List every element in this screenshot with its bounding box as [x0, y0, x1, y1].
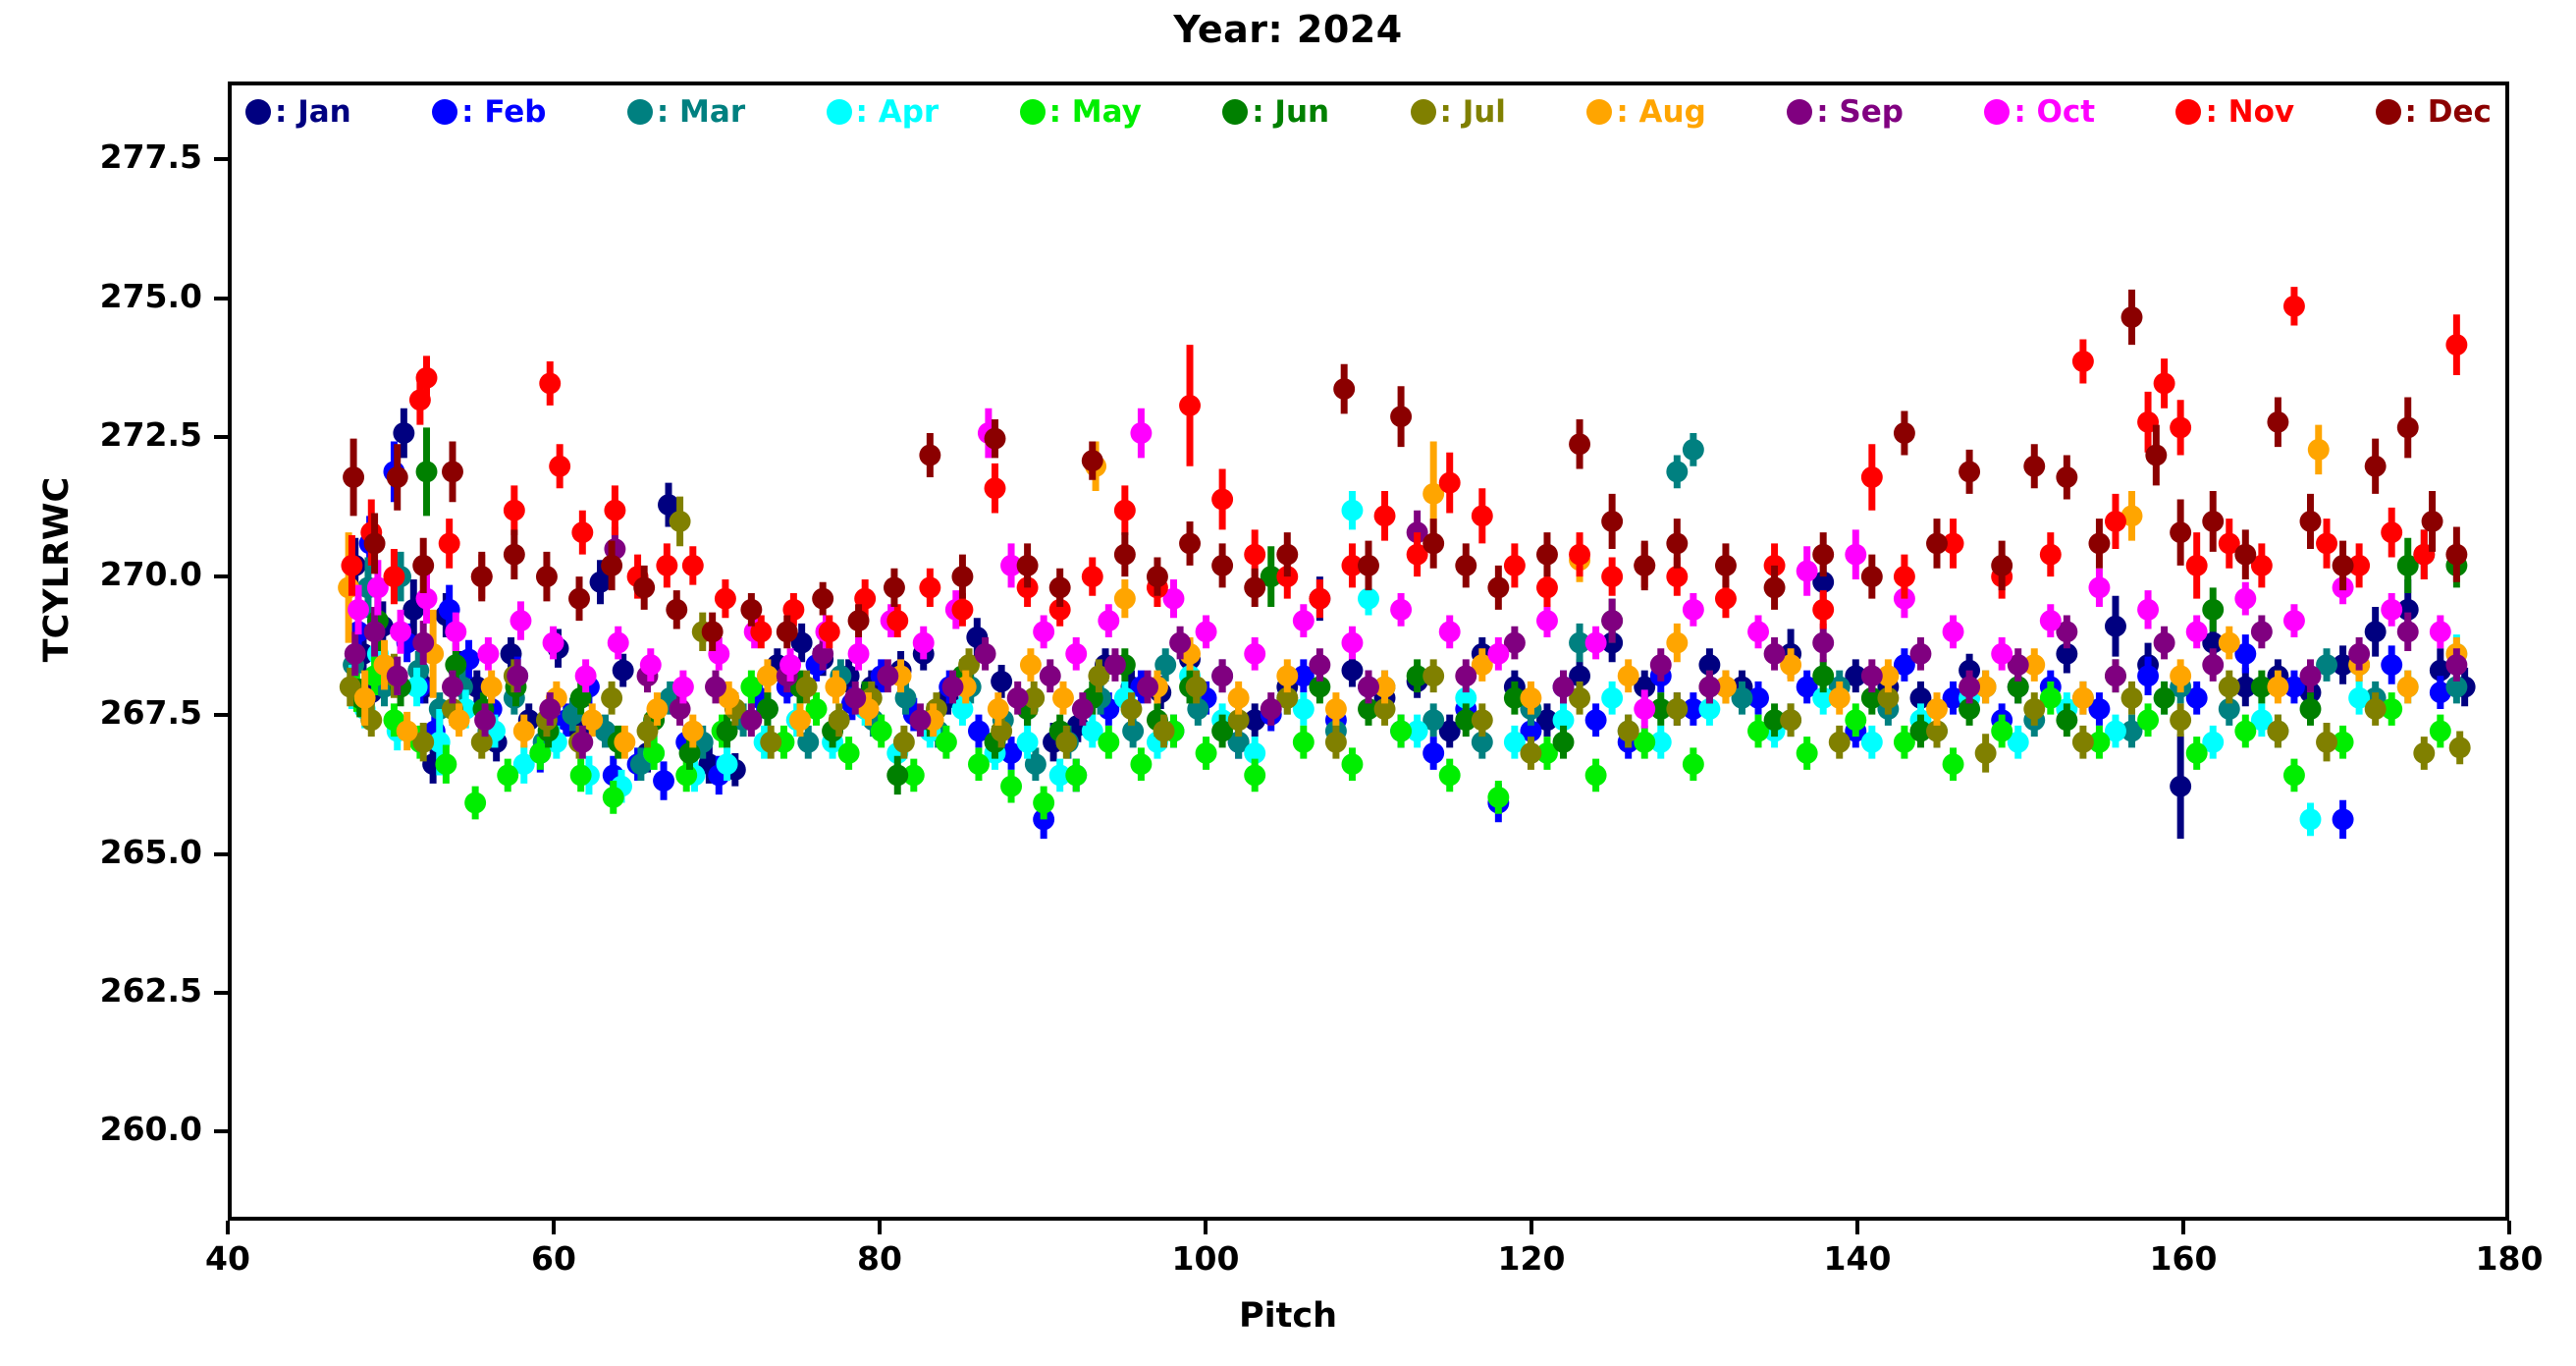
data-point	[968, 753, 990, 775]
data-point	[1358, 555, 1379, 576]
data-point	[2121, 306, 2143, 328]
data-point	[2348, 643, 2370, 665]
data-point	[838, 742, 860, 764]
data-point	[985, 428, 1006, 450]
data-point	[1472, 709, 1493, 731]
data-point	[507, 665, 528, 686]
data-point	[2316, 732, 2337, 753]
data-point	[2154, 373, 2175, 395]
data-point	[1666, 532, 1688, 554]
data-point	[2186, 621, 2208, 642]
data-point	[2088, 532, 2110, 554]
data-point	[1829, 732, 1851, 753]
legend-marker-icon	[1586, 99, 1612, 125]
y-tick-mark	[214, 852, 228, 856]
data-point	[2154, 687, 2175, 709]
data-point	[449, 709, 470, 731]
data-point	[1439, 765, 1461, 787]
data-point	[740, 599, 762, 621]
data-point	[646, 698, 668, 720]
data-point	[1698, 677, 1720, 698]
x-tick-label: 160	[2150, 1239, 2218, 1278]
data-point	[481, 677, 503, 698]
x-tick-label: 60	[531, 1239, 576, 1278]
legend-item-label: : Oct	[2013, 97, 2095, 128]
data-point	[2170, 665, 2191, 686]
data-point	[1618, 665, 1639, 686]
data-point	[1715, 555, 1737, 576]
legend-item-may[interactable]: : May	[1020, 97, 1142, 128]
data-point	[656, 555, 677, 576]
x-tick-mark	[552, 1221, 556, 1234]
y-tick-label: 275.0	[0, 277, 202, 315]
data-point	[393, 422, 414, 444]
data-point	[1341, 500, 1363, 521]
y-tick-mark	[214, 991, 228, 995]
data-point	[812, 588, 833, 610]
data-point	[1601, 511, 1623, 532]
data-point	[1065, 643, 1087, 665]
data-point	[2170, 416, 2191, 438]
data-point	[1244, 576, 1265, 598]
data-point	[1487, 787, 1509, 808]
data-point	[1536, 544, 1558, 566]
data-point	[1276, 665, 1298, 686]
data-point	[951, 599, 973, 621]
data-point	[1455, 665, 1476, 686]
data-point	[2219, 632, 2240, 654]
data-point	[1007, 687, 1029, 709]
data-point	[2105, 665, 2126, 686]
data-point	[2072, 687, 2094, 709]
data-point	[2283, 765, 2305, 787]
data-point	[2267, 411, 2288, 433]
data-point	[670, 511, 691, 532]
legend-item-label: : Jan	[275, 97, 351, 128]
data-point	[416, 461, 438, 482]
legend-marker-icon	[2376, 99, 2401, 125]
legend-item-label: : Jul	[1440, 97, 1506, 128]
data-point	[1991, 721, 2012, 742]
data-point	[2137, 599, 2159, 621]
data-point	[886, 610, 908, 631]
data-point	[633, 576, 655, 598]
data-point	[1358, 677, 1379, 698]
data-point	[1926, 532, 1948, 554]
data-point	[341, 555, 362, 576]
data-point	[1211, 665, 1233, 686]
data-point	[991, 671, 1012, 692]
data-point	[2202, 511, 2224, 532]
data-point	[1033, 792, 1054, 814]
data-point	[1040, 665, 1061, 686]
data-point	[1683, 439, 1704, 461]
page-title: Year: 2024	[0, 8, 2576, 51]
data-point	[2365, 621, 2387, 642]
data-point	[877, 665, 898, 686]
data-point	[364, 621, 386, 642]
data-point	[1812, 599, 1834, 621]
data-point	[2154, 632, 2175, 654]
data-point	[570, 765, 592, 787]
data-point	[936, 732, 957, 753]
data-point	[1764, 576, 1786, 598]
data-point	[2445, 334, 2467, 355]
y-tick-mark	[214, 435, 228, 439]
data-point	[1634, 698, 1655, 720]
data-point	[513, 721, 535, 742]
data-point	[539, 373, 561, 395]
data-point	[2251, 621, 2273, 642]
data-point	[1943, 621, 1964, 642]
data-point	[1169, 632, 1191, 654]
data-point	[435, 753, 456, 775]
legend-item-label: : May	[1049, 97, 1142, 128]
data-point	[2397, 677, 2419, 698]
data-point	[1487, 643, 1509, 665]
data-point	[1211, 489, 1233, 511]
data-point	[2234, 588, 2256, 610]
data-point	[2056, 709, 2077, 731]
data-point	[464, 792, 486, 814]
data-point	[1082, 566, 1103, 587]
data-point	[1764, 643, 1786, 665]
legend-item-oct[interactable]: : Oct	[1984, 97, 2095, 128]
data-point	[2300, 808, 2322, 830]
data-point	[571, 732, 593, 753]
data-point	[390, 621, 411, 642]
data-point	[442, 677, 463, 698]
data-point	[1909, 643, 1931, 665]
data-point	[1861, 566, 1883, 587]
data-point	[601, 687, 622, 709]
legend-marker-icon	[627, 99, 653, 125]
data-point	[613, 660, 634, 682]
data-point	[1797, 561, 1818, 582]
y-tick-label: 267.5	[0, 693, 202, 732]
data-point	[682, 555, 704, 576]
x-tick-mark	[878, 1221, 882, 1234]
data-point	[1894, 422, 1915, 444]
data-point	[2105, 616, 2126, 637]
data-point	[819, 621, 840, 642]
data-point	[1017, 732, 1039, 753]
data-point	[387, 665, 408, 686]
data-point	[364, 532, 386, 554]
data-point	[2267, 677, 2288, 698]
data-point	[477, 643, 499, 665]
data-point	[2219, 677, 2240, 698]
data-point	[2381, 654, 2402, 676]
data-point	[1845, 544, 1866, 566]
data-point	[2170, 521, 2191, 543]
data-point	[1861, 665, 1883, 686]
data-point	[1553, 677, 1575, 698]
data-point	[1422, 532, 1444, 554]
data-point	[412, 632, 434, 654]
legend-marker-icon	[827, 99, 852, 125]
data-point	[1747, 621, 1769, 642]
data-point	[702, 621, 724, 642]
legend-item-apr[interactable]: : Apr	[827, 97, 939, 128]
data-point	[1472, 505, 1493, 526]
legend-item-nov[interactable]: : Nov	[2175, 97, 2294, 128]
data-point	[1861, 466, 1883, 488]
data-point	[1797, 742, 1818, 764]
data-point	[975, 643, 996, 665]
data-point	[1020, 654, 1042, 676]
data-point	[1276, 544, 1298, 566]
data-point	[942, 677, 964, 698]
data-point	[1341, 660, 1363, 682]
x-axis-label: Pitch	[0, 1296, 2576, 1336]
scatter-plot-canvas	[232, 85, 2505, 1217]
data-point	[604, 500, 625, 521]
data-point	[412, 555, 434, 576]
legend-item-aug[interactable]: : Aug	[1586, 97, 1705, 128]
data-point	[2430, 721, 2451, 742]
data-point	[383, 566, 404, 587]
data-point	[442, 461, 463, 482]
data-point	[1634, 555, 1655, 576]
data-point	[2283, 296, 2305, 317]
data-point	[2121, 687, 2143, 709]
data-point	[893, 732, 915, 753]
legend-item-mar[interactable]: : Mar	[627, 97, 745, 128]
data-point	[1065, 765, 1087, 787]
data-point	[2365, 456, 2387, 477]
data-point	[1943, 753, 1964, 775]
data-point	[825, 677, 846, 698]
data-point	[1390, 721, 1412, 742]
data-point	[1487, 576, 1509, 598]
data-point	[829, 709, 850, 731]
data-point	[796, 677, 818, 698]
data-point	[1309, 654, 1330, 676]
data-point	[439, 532, 460, 554]
data-point	[1196, 621, 1217, 642]
data-point	[416, 367, 438, 389]
data-point	[1422, 742, 1444, 764]
data-point	[1601, 610, 1623, 631]
legend-item-feb[interactable]: : Feb	[432, 97, 546, 128]
data-point	[2381, 521, 2402, 543]
data-point	[2308, 439, 2330, 461]
data-point	[757, 665, 778, 686]
data-point	[2316, 532, 2337, 554]
data-point	[2397, 416, 2419, 438]
y-tick-label: 262.5	[0, 971, 202, 1010]
data-point	[1121, 698, 1143, 720]
data-point	[1504, 555, 1526, 576]
y-tick-mark	[214, 157, 228, 161]
data-point	[536, 566, 558, 587]
legend-item-jul[interactable]: : Jul	[1411, 97, 1506, 128]
legend-item-dec[interactable]: : Dec	[2376, 97, 2492, 128]
data-point	[1325, 698, 1347, 720]
data-point	[571, 521, 593, 543]
legend-item-label: : Dec	[2405, 97, 2492, 128]
legend[interactable]: : Jan: Feb: Mar: Apr: May: Jun: Jul: Aug…	[228, 86, 2509, 137]
data-point	[543, 632, 564, 654]
data-point	[2186, 555, 2208, 576]
data-point	[474, 709, 496, 731]
data-point	[497, 765, 518, 787]
data-point	[2040, 544, 2062, 566]
data-point	[919, 576, 940, 598]
data-point	[1601, 566, 1623, 587]
data-point	[913, 632, 935, 654]
data-point	[705, 677, 726, 698]
data-point	[504, 544, 525, 566]
data-point	[1082, 450, 1103, 471]
data-point	[1341, 753, 1363, 775]
data-point	[1114, 544, 1136, 566]
data-point	[672, 677, 694, 698]
data-point	[1017, 555, 1039, 576]
data-point	[1666, 698, 1688, 720]
data-point	[1390, 599, 1412, 621]
data-point	[1033, 621, 1054, 642]
data-point	[1829, 687, 1851, 709]
chart-figure: Year: 2024 : Jan: Feb: Mar: Apr: May: Ju…	[0, 0, 2576, 1366]
data-point	[2445, 654, 2467, 676]
data-point	[909, 709, 931, 731]
data-point	[2105, 511, 2126, 532]
data-point	[1186, 677, 1207, 698]
data-point	[1585, 709, 1607, 731]
data-point	[2300, 665, 2322, 686]
data-point	[2056, 466, 2077, 488]
data-point	[1991, 555, 2012, 576]
data-point	[919, 445, 940, 466]
x-tick-label: 40	[205, 1239, 250, 1278]
data-point	[1055, 732, 1077, 753]
legend-item-label: : Aug	[1616, 97, 1705, 128]
data-point	[1114, 500, 1136, 521]
data-point	[1553, 732, 1575, 753]
data-point	[640, 654, 662, 676]
data-point	[1211, 555, 1233, 576]
data-point	[1959, 677, 1980, 698]
data-point	[2170, 776, 2191, 797]
x-tick-mark	[226, 1221, 230, 1234]
data-point	[1309, 588, 1330, 610]
data-point	[2381, 599, 2402, 621]
data-point	[1585, 765, 1607, 787]
data-point	[1104, 654, 1126, 676]
data-point	[601, 555, 622, 576]
data-point	[1244, 544, 1265, 566]
legend-item-label: : Apr	[856, 97, 939, 128]
y-tick-mark	[214, 713, 228, 717]
legend-item-jun[interactable]: : Jun	[1222, 97, 1329, 128]
data-point	[1991, 643, 2012, 665]
data-point	[1666, 632, 1688, 654]
data-point	[2333, 555, 2354, 576]
x-tick-label: 120	[1498, 1239, 1566, 1278]
y-tick-label: 277.5	[0, 137, 202, 176]
data-point	[1666, 566, 1688, 587]
x-tick-label: 140	[1824, 1239, 1892, 1278]
data-point	[653, 770, 674, 792]
legend-item-sep[interactable]: : Sep	[1787, 97, 1904, 128]
x-tick-mark	[1855, 1221, 1859, 1234]
y-tick-label: 270.0	[0, 555, 202, 593]
data-point	[2413, 742, 2435, 764]
data-point	[740, 709, 762, 731]
data-point	[603, 787, 624, 808]
y-tick-label: 260.0	[0, 1110, 202, 1148]
plot-area[interactable]	[228, 82, 2509, 1221]
data-point	[471, 566, 493, 587]
data-point	[1861, 732, 1883, 753]
data-point	[1959, 461, 1980, 482]
data-point	[1244, 643, 1265, 665]
data-point	[614, 732, 635, 753]
data-point	[717, 753, 738, 775]
data-point	[354, 687, 376, 709]
data-point	[504, 500, 525, 521]
data-point	[988, 698, 1009, 720]
data-point	[1536, 610, 1558, 631]
data-point	[1098, 610, 1119, 631]
data-point	[1812, 632, 1834, 654]
data-point	[844, 687, 866, 709]
data-point	[510, 610, 532, 631]
data-point	[2267, 721, 2288, 742]
data-point	[1585, 632, 1607, 654]
data-point	[1666, 461, 1688, 482]
data-point	[1293, 610, 1315, 631]
legend-marker-icon	[1222, 99, 1248, 125]
data-point	[549, 456, 570, 477]
x-tick-mark	[2507, 1221, 2511, 1234]
data-point	[2234, 544, 2256, 566]
data-point	[1293, 732, 1315, 753]
data-point	[1618, 721, 1639, 742]
data-point	[2422, 511, 2443, 532]
data-point	[2137, 665, 2159, 686]
legend-item-jan[interactable]: : Jan	[245, 97, 351, 128]
data-point	[1341, 632, 1363, 654]
data-point	[1715, 588, 1737, 610]
data-point	[1154, 721, 1175, 742]
data-point	[608, 632, 629, 654]
data-point	[871, 721, 892, 742]
data-point	[575, 665, 597, 686]
data-point	[1812, 544, 1834, 566]
data-point	[2023, 698, 2045, 720]
data-point	[1072, 698, 1094, 720]
data-point	[1569, 544, 1590, 566]
legend-item-label: : Mar	[657, 97, 745, 128]
data-point	[568, 588, 590, 610]
data-point	[2397, 621, 2419, 642]
data-point	[1196, 742, 1217, 764]
data-point	[2202, 654, 2224, 676]
data-point	[2186, 742, 2208, 764]
y-tick-mark	[214, 574, 228, 578]
data-point	[2449, 737, 2471, 758]
x-tick-mark	[1529, 1221, 1533, 1234]
data-point	[2145, 445, 2167, 466]
data-point	[1390, 406, 1412, 427]
data-point	[397, 721, 418, 742]
x-tick-label: 80	[857, 1239, 902, 1278]
data-point	[666, 599, 687, 621]
y-tick-label: 272.5	[0, 415, 202, 454]
